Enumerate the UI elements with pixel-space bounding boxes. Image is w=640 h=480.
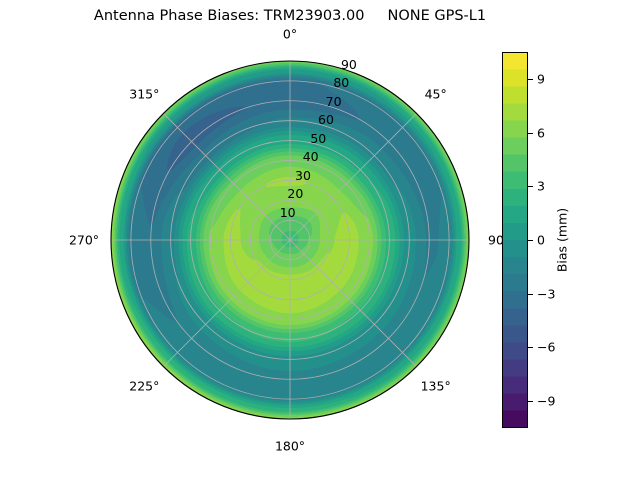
radial-tick-30: 30 [295, 168, 311, 183]
radial-tick-60: 60 [318, 112, 334, 127]
angular-tick-45: 45° [425, 87, 447, 102]
angular-tick-270: 270° [69, 233, 99, 248]
colorbar [502, 52, 528, 428]
radial-tick-70: 70 [326, 94, 342, 109]
colorbar-gradient [502, 52, 528, 428]
colorbar-ticklabel-4: −3 [537, 286, 555, 301]
colorbar-tick-mark [528, 401, 533, 402]
radial-tick-90: 90 [341, 57, 357, 72]
figure-canvas: Antenna Phase Biases: TRM23903.00 NONE G… [0, 0, 640, 480]
colorbar-ticklabel-3: 0 [537, 233, 545, 248]
page-title: Antenna Phase Biases: TRM23903.00 NONE G… [0, 8, 580, 24]
radial-tick-80: 80 [333, 75, 349, 90]
radial-tick-10: 10 [280, 205, 296, 220]
colorbar-axis-label: Bias (mm) [555, 208, 570, 272]
colorbar-tick-mark [528, 186, 533, 187]
polar-plot: 0°45°90135°180°225°270°315° 102030405060… [110, 60, 470, 420]
colorbar-tick-mark [528, 133, 533, 134]
colorbar-ticklabel-2: 3 [537, 179, 545, 194]
angular-tick-0: 0° [283, 27, 297, 42]
angular-tick-315: 315° [129, 87, 159, 102]
polar-heatmap-canvas [110, 60, 470, 420]
angular-tick-135: 135° [421, 378, 451, 393]
colorbar-ticklabel-0: 9 [537, 71, 545, 86]
colorbar-ticklabel-1: 6 [537, 125, 545, 140]
angular-tick-225: 225° [129, 378, 159, 393]
colorbar-tick-mark [528, 79, 533, 80]
colorbar-tick-mark [528, 347, 533, 348]
angular-tick-180: 180° [275, 439, 305, 454]
radial-tick-50: 50 [310, 131, 326, 146]
radial-tick-40: 40 [303, 149, 319, 164]
colorbar-ticklabel-6: −9 [537, 394, 555, 409]
colorbar-ticklabel-5: −6 [537, 340, 555, 355]
colorbar-tick-mark [528, 294, 533, 295]
colorbar-tick-mark [528, 240, 533, 241]
radial-tick-20: 20 [287, 186, 303, 201]
